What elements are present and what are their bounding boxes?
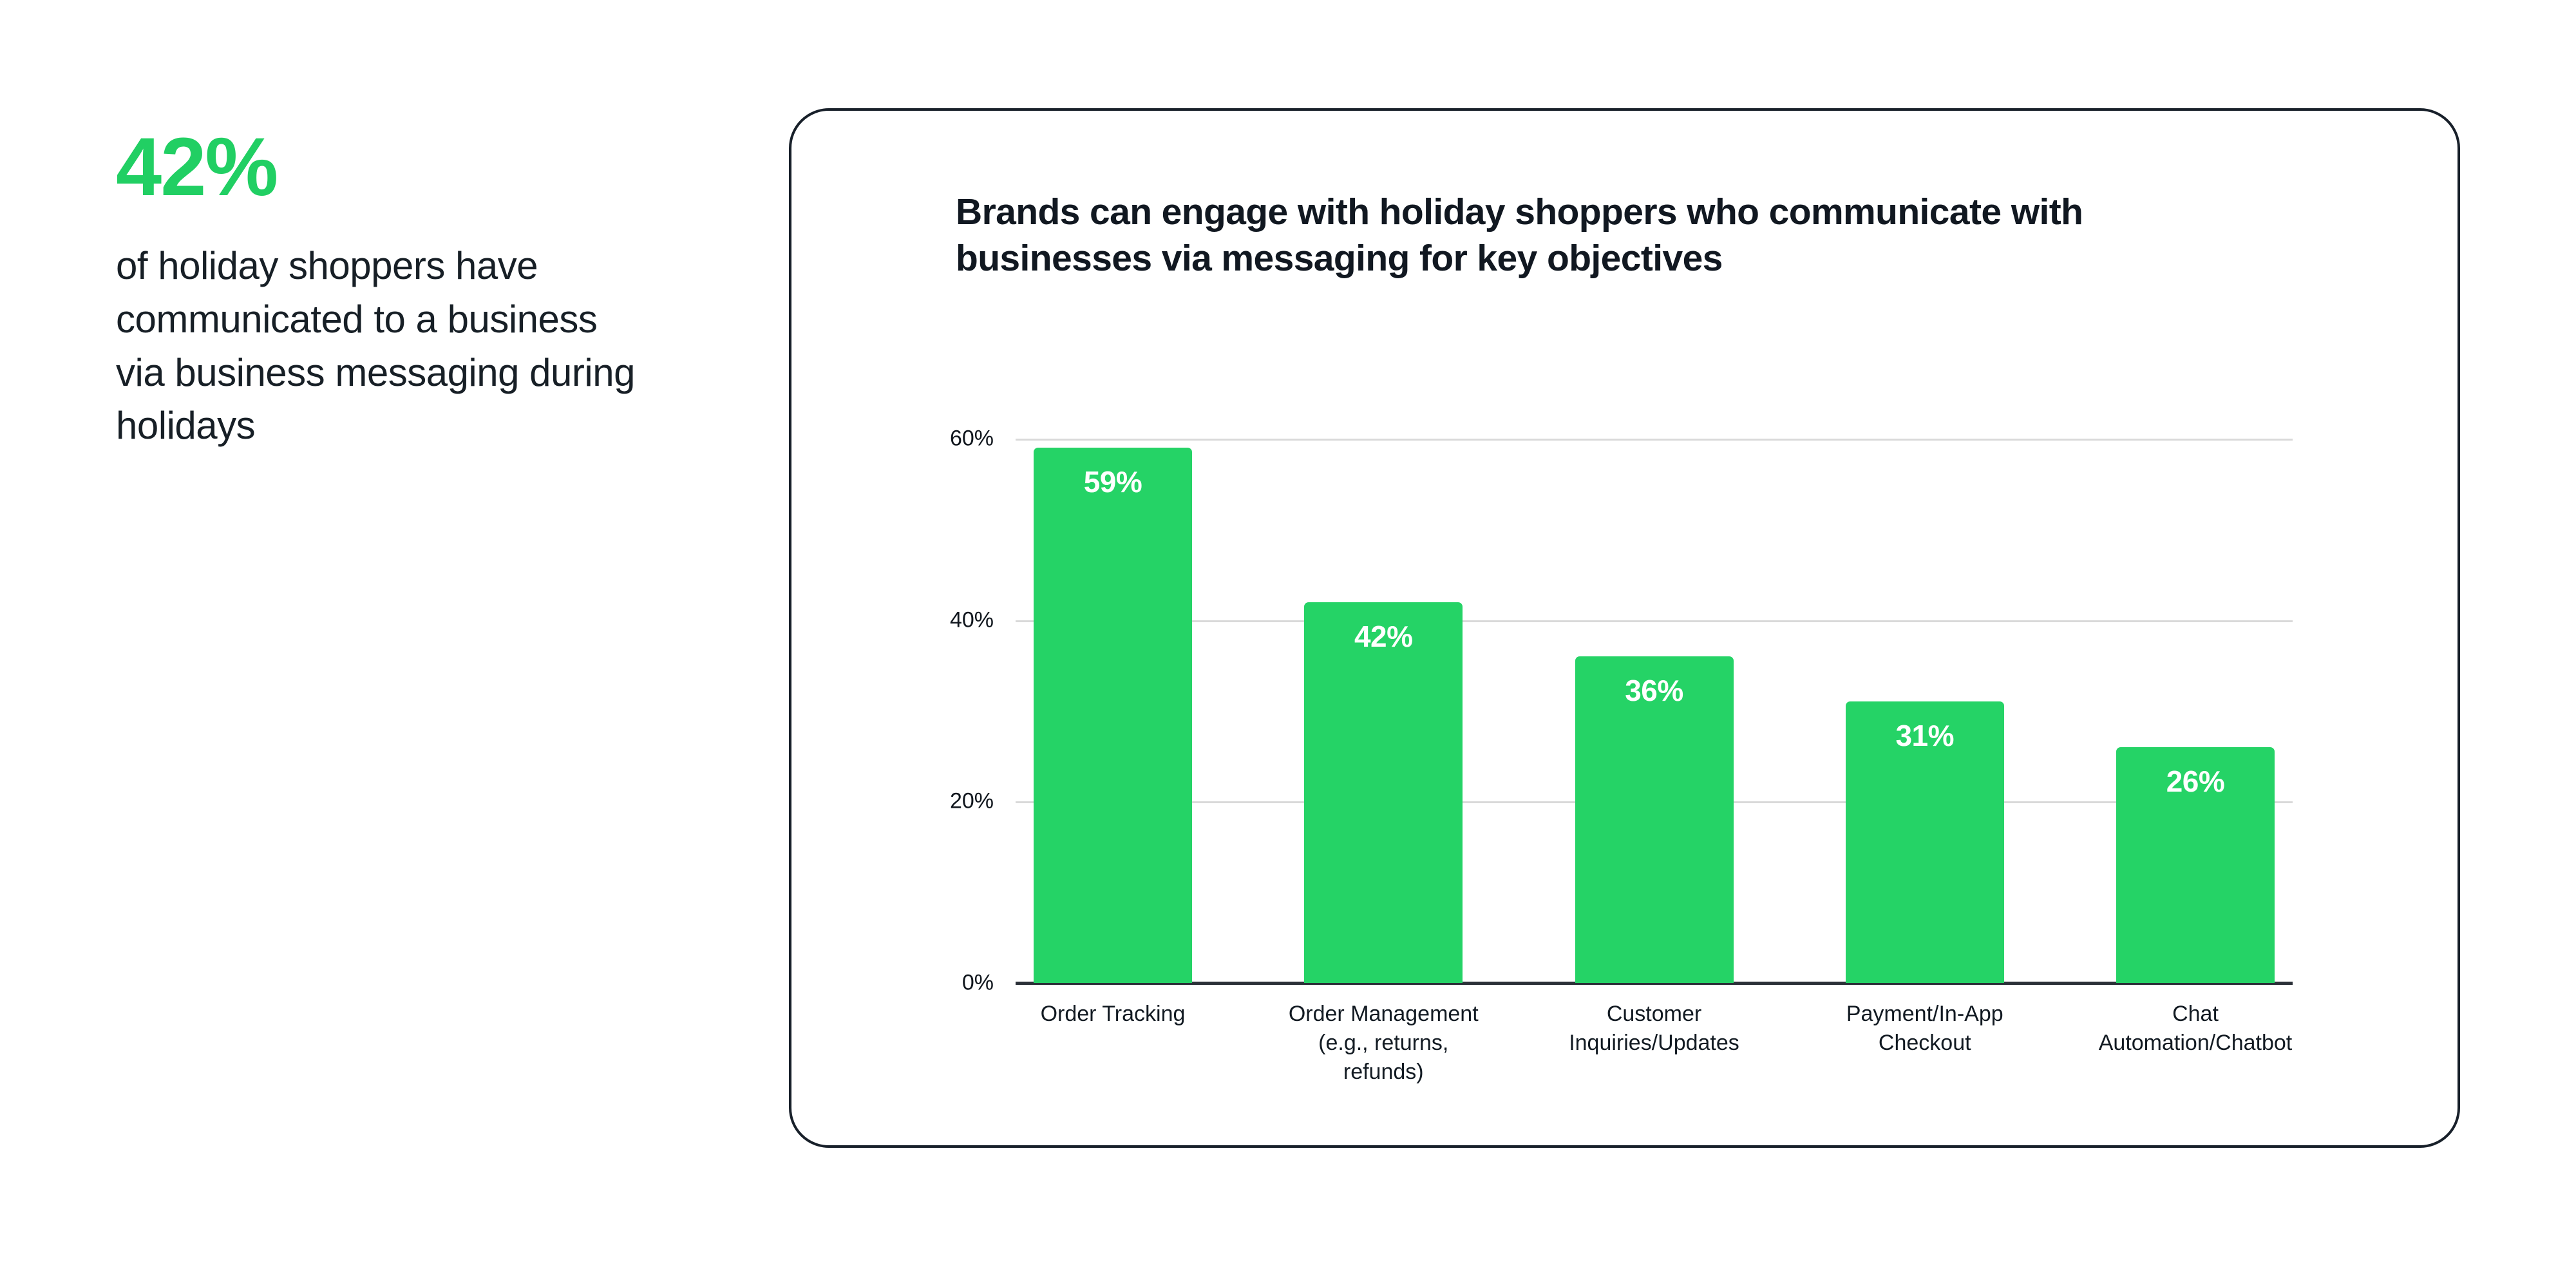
stat-panel: 42% of holiday shoppers have communicate… <box>116 126 696 453</box>
bar-slot: 26%ChatAutomation/Chatbot <box>2116 439 2275 983</box>
x-axis-category-label: Order Management(e.g., returns,refunds) <box>1273 1000 1493 1087</box>
stat-caption-text: of holiday shoppers have communicated to… <box>116 240 650 453</box>
bar-value-label: 36% <box>1575 673 1734 708</box>
x-axis-category-label: Payment/In-AppCheckout <box>1815 1000 2035 1058</box>
y-axis-tick-label: 0% <box>962 971 994 996</box>
chart-title: Brands can engage with holiday shoppers … <box>956 189 2263 282</box>
y-axis-tick-label: 20% <box>950 789 994 814</box>
chart-plot-area: 0%20%40%60% 59%Order Tracking42%Order Ma… <box>1016 439 2293 983</box>
x-axis-category-label: ChatAutomation/Chatbot <box>2085 1000 2306 1058</box>
bar-slot: 36%CustomerInquiries/Updates <box>1575 439 1734 983</box>
chart-card: Brands can engage with holiday shoppers … <box>789 108 2460 1148</box>
y-axis-tick-label: 40% <box>950 607 994 633</box>
bar-value-label: 31% <box>1846 718 2004 753</box>
bar-value-label: 26% <box>2116 764 2275 799</box>
bar[interactable]: 36%CustomerInquiries/Updates <box>1575 656 1734 983</box>
stat-headline-number: 42% <box>116 126 696 209</box>
y-axis-tick-label: 60% <box>950 426 994 452</box>
x-axis-category-label: Order Tracking <box>1003 1000 1223 1029</box>
bar[interactable]: 59%Order Tracking <box>1034 448 1192 983</box>
bar[interactable]: 31%Payment/In-AppCheckout <box>1846 701 2004 983</box>
bar-slot: 31%Payment/In-AppCheckout <box>1846 439 2004 983</box>
bar-value-label: 42% <box>1304 619 1463 654</box>
bar-slot: 42%Order Management(e.g., returns,refund… <box>1304 439 1463 983</box>
bar[interactable]: 42%Order Management(e.g., returns,refund… <box>1304 602 1463 984</box>
bar-series: 59%Order Tracking42%Order Management(e.g… <box>1016 439 2293 983</box>
bar[interactable]: 26%ChatAutomation/Chatbot <box>2116 747 2275 983</box>
bar-value-label: 59% <box>1034 464 1192 499</box>
bar-slot: 59%Order Tracking <box>1034 439 1192 983</box>
x-axis-category-label: CustomerInquiries/Updates <box>1544 1000 1765 1058</box>
